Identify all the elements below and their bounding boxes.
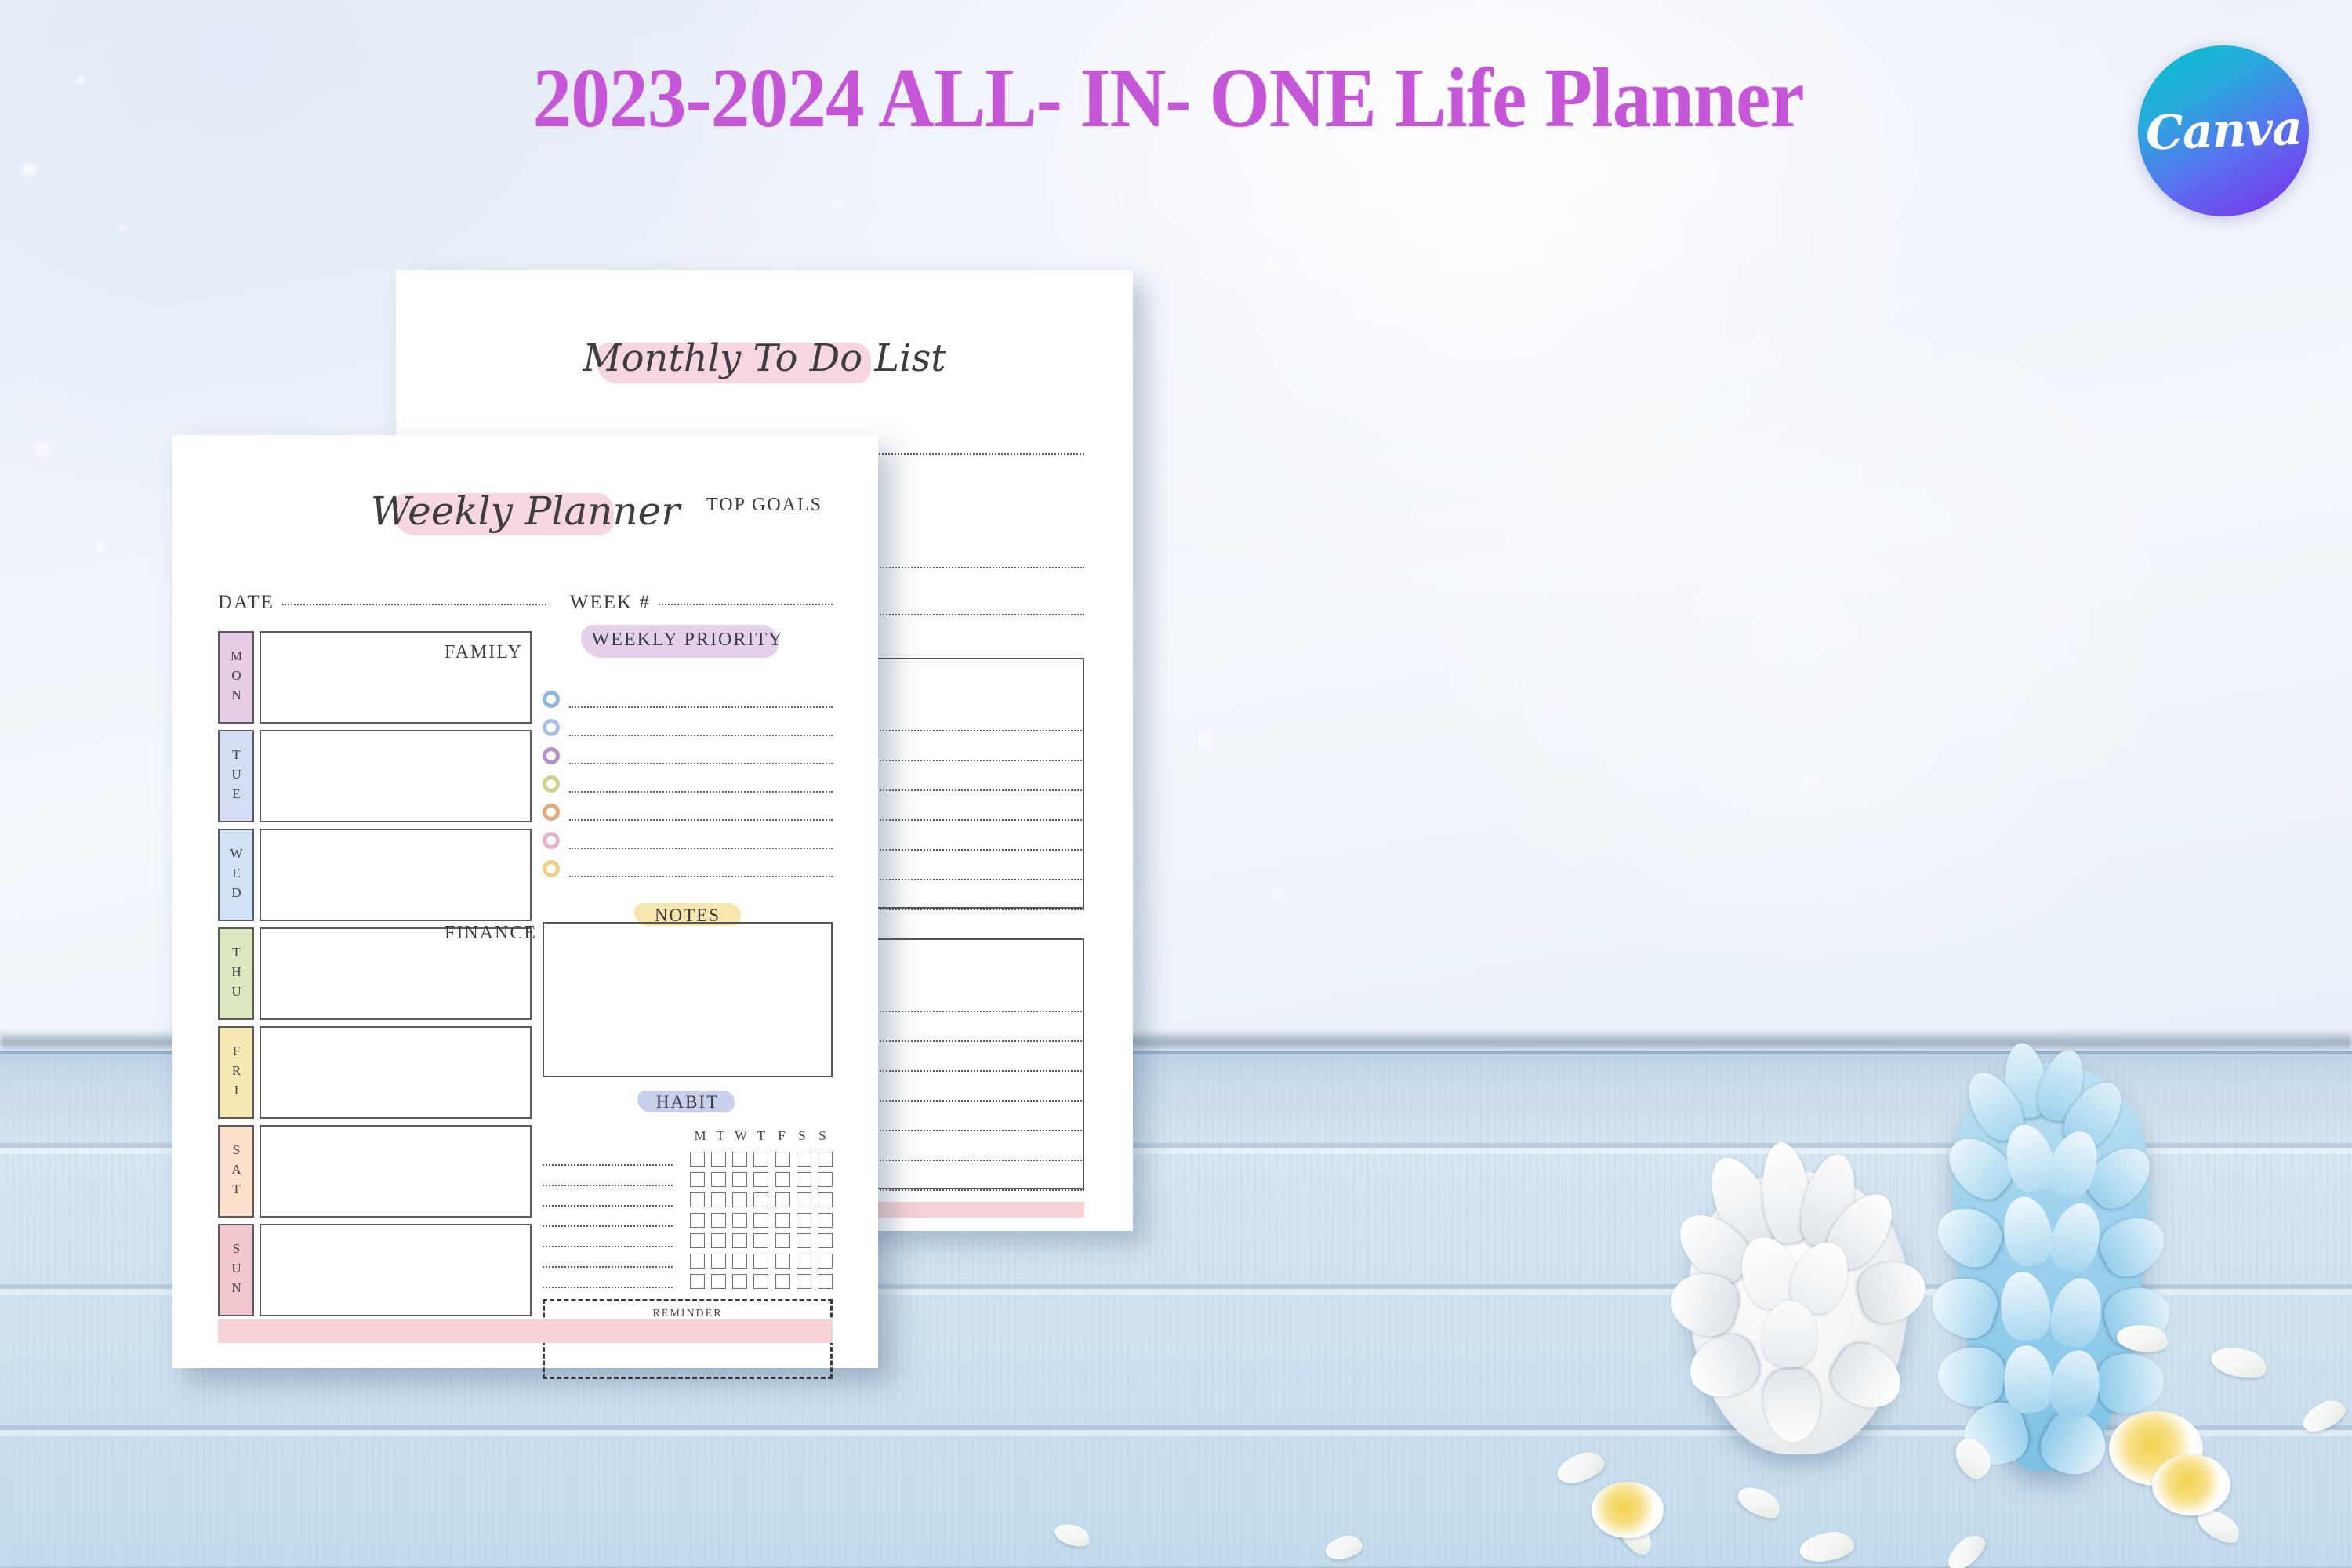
weekly-priority-heading: WEEKLY PRIORITY [592,630,784,650]
habit-checkbox[interactable] [732,1233,747,1248]
day-label-cell-wed: WED [218,829,254,921]
day-label: SUN [228,1241,244,1300]
habit-checkbox[interactable] [732,1192,747,1207]
habit-checkbox[interactable] [711,1274,726,1289]
week-number-field-label: WEEK # [570,592,651,614]
year-field-dots [860,453,1084,455]
day-label-cell-thu: THU [218,927,254,1020]
habit-checkbox-group[interactable] [690,1274,833,1289]
habit-checkbox[interactable] [818,1233,833,1248]
habit-checkbox[interactable] [753,1213,768,1228]
day-label: MON [228,648,244,707]
habit-heading-wrap: HABIT [656,1092,719,1112]
habit-day-header: S [812,1128,833,1144]
priority-line[interactable] [569,848,833,849]
habit-checkbox-group[interactable] [690,1254,833,1269]
habit-checkbox[interactable] [775,1213,790,1228]
day-row[interactable]: SUN [218,1224,532,1316]
habit-checkbox[interactable] [797,1274,811,1289]
habit-checkbox[interactable] [818,1192,833,1207]
day-label: WED [228,846,244,905]
priority-bullet-ring-icon[interactable] [543,691,560,708]
habit-name-line[interactable] [543,1205,673,1207]
top-goals-heading: TOP GOALS [706,495,822,515]
habit-day-header: W [731,1128,751,1144]
day-label-cell-fri: FRI [218,1026,254,1119]
habit-checkbox-group[interactable] [690,1192,833,1207]
habit-checkbox[interactable] [797,1192,811,1207]
day-write-area[interactable] [260,1026,532,1119]
priority-row[interactable] [543,742,833,770]
habit-checkbox[interactable] [775,1233,790,1248]
week-number-field-dots [659,604,833,605]
habit-checkbox[interactable] [690,1152,705,1167]
habit-checkbox[interactable] [818,1152,833,1167]
habit-checkbox[interactable] [690,1233,705,1248]
habit-checkbox[interactable] [690,1274,705,1289]
priority-row[interactable] [543,798,833,826]
priority-line[interactable] [569,735,833,736]
habit-checkbox[interactable] [711,1254,726,1269]
habit-checkbox-group[interactable] [690,1233,833,1248]
priority-line[interactable] [569,876,833,877]
weekly-footer-bar [218,1319,833,1343]
habit-checkbox[interactable] [711,1192,726,1207]
weekly-planner-page[interactable]: Weekly Planner DATE WEEK # MONTUEWEDTHUF… [172,435,878,1368]
priority-row[interactable] [543,685,833,713]
priority-bullet-ring-icon[interactable] [543,775,560,793]
habit-checkbox[interactable] [711,1152,726,1167]
day-label-cell-sat: SAT [218,1125,254,1218]
day-row[interactable]: TUE [218,730,532,822]
habit-row[interactable] [543,1250,833,1271]
habit-name-line[interactable] [543,1185,673,1186]
habit-name-line[interactable] [543,1287,673,1288]
flower-floret [2152,1454,2230,1515]
habit-checkbox[interactable] [732,1213,747,1228]
week-number-field[interactable]: WEEK # [570,592,833,614]
notes-heading-wrap: NOTES [655,906,720,926]
weekly-page-title-wrap: Weekly Planner [371,488,680,534]
habit-checkbox[interactable] [753,1152,768,1167]
habit-heading: HABIT [656,1092,719,1112]
notes-heading: NOTES [655,906,720,925]
priority-line[interactable] [569,706,833,708]
day-label-cell-mon: MON [218,631,254,724]
family-heading: FAMILY [445,642,523,662]
habit-checkbox[interactable] [797,1152,811,1167]
day-label: THU [228,945,244,1004]
habit-row[interactable] [543,1189,833,1210]
priority-line[interactable] [569,791,833,793]
habit-checkbox[interactable] [753,1254,768,1269]
habit-checkbox[interactable] [690,1213,705,1228]
date-field-dots [282,604,546,605]
priority-bullet-ring-icon[interactable] [543,832,560,849]
habit-name-line[interactable] [543,1164,673,1166]
day-rows[interactable]: MONTUEWEDTHUFRISATSUN [218,631,532,1323]
day-write-area[interactable] [260,730,532,822]
habit-tracker-grid[interactable] [543,1149,833,1291]
habit-day-header: T [710,1128,731,1144]
habit-checkbox[interactable] [797,1233,811,1248]
habit-checkbox[interactable] [711,1213,726,1228]
priority-bullet-ring-icon[interactable] [543,719,560,736]
habit-day-headers: MTWTFSS [690,1128,833,1144]
white-pinecone [1670,1141,1929,1462]
habit-checkbox[interactable] [797,1254,811,1269]
family-heading-wrap: FAMILY [445,642,523,663]
priority-line[interactable] [569,819,833,821]
habit-name-line[interactable] [543,1246,673,1247]
flower-floret [1592,1482,1664,1538]
monthly-page-title: Monthly To Do List [583,336,946,380]
weekly-priority-list[interactable] [543,685,833,883]
habit-day-header: F [771,1128,792,1144]
day-label-cell-sun: SUN [218,1224,254,1316]
priority-bullet-ring-icon[interactable] [543,747,560,764]
date-field[interactable]: DATE [218,592,546,614]
habit-checkbox[interactable] [753,1192,768,1207]
habit-checkbox[interactable] [775,1254,790,1269]
habit-checkbox[interactable] [690,1172,705,1187]
habit-checkbox-group[interactable] [690,1172,833,1187]
canva-logo-icon[interactable]: Canva [2138,45,2309,216]
notes-box[interactable] [543,922,833,1077]
day-write-area[interactable] [260,1224,532,1316]
top-goals-heading-wrap: TOP GOALS [706,495,822,516]
habit-checkbox[interactable] [753,1274,768,1289]
day-label-cell-tue: TUE [218,730,254,822]
habit-name-line[interactable] [543,1225,673,1227]
weekly-priority-heading-wrap: WEEKLY PRIORITY [592,630,784,651]
habit-checkbox-group[interactable] [690,1152,833,1167]
day-write-area[interactable] [260,1125,532,1218]
habit-checkbox[interactable] [775,1192,790,1207]
priority-bullet-ring-icon[interactable] [543,860,560,877]
day-row[interactable]: FRI [218,1026,532,1119]
weekly-page-title: Weekly Planner [371,488,680,534]
habit-checkbox[interactable] [753,1233,768,1248]
habit-checkbox[interactable] [818,1254,833,1269]
priority-row[interactable] [543,826,833,855]
habit-checkbox[interactable] [690,1192,705,1207]
habit-row[interactable] [543,1230,833,1250]
habit-checkbox[interactable] [732,1172,747,1187]
habit-checkbox[interactable] [775,1152,790,1167]
habit-checkbox[interactable] [732,1152,747,1167]
header: 2023-2024 ALL- IN- ONE Life Planner Canv… [0,0,2352,180]
habit-checkbox[interactable] [797,1213,811,1228]
page-title: 2023-2024 ALL- IN- ONE Life Planner [332,56,2005,141]
reminder-heading: REMINDER [545,1308,830,1320]
habit-checkbox[interactable] [711,1172,726,1187]
finance-heading: FINANCE [445,923,537,943]
habit-checkbox[interactable] [818,1274,833,1289]
day-write-area[interactable] [260,829,532,921]
habit-row[interactable] [543,1210,833,1230]
date-field-label: DATE [218,592,274,614]
finance-heading-wrap: FINANCE [445,923,537,944]
monthly-page-title-wrap: Monthly To Do List [583,336,946,380]
habit-checkbox[interactable] [818,1172,833,1187]
priority-bullet-ring-icon[interactable] [543,804,560,821]
day-row[interactable]: SAT [218,1125,532,1218]
habit-checkbox[interactable] [775,1274,790,1289]
habit-checkbox[interactable] [775,1172,790,1187]
habit-checkbox[interactable] [753,1172,768,1187]
day-label: FRI [228,1044,244,1102]
day-label: TUE [228,747,244,806]
habit-checkbox-group[interactable] [690,1213,833,1228]
habit-day-header: T [751,1128,771,1144]
priority-line[interactable] [569,763,833,764]
habit-row[interactable] [543,1169,833,1189]
habit-day-header: M [690,1128,710,1144]
habit-name-line[interactable] [543,1266,673,1268]
priority-row[interactable] [543,713,833,742]
habit-checkbox[interactable] [732,1254,747,1269]
day-row[interactable]: WED [218,829,532,921]
priority-row[interactable] [543,770,833,798]
habit-checkbox[interactable] [711,1233,726,1248]
habit-checkbox[interactable] [690,1254,705,1269]
habit-row[interactable] [543,1149,833,1169]
canva-wordmark: Canva [2144,101,2302,162]
habit-checkbox[interactable] [818,1213,833,1228]
habit-checkbox[interactable] [797,1172,811,1187]
priority-row[interactable] [543,855,833,883]
habit-checkbox[interactable] [732,1274,747,1289]
habit-row[interactable] [543,1271,833,1291]
day-label: SAT [228,1142,244,1201]
habit-day-header: S [792,1128,812,1144]
